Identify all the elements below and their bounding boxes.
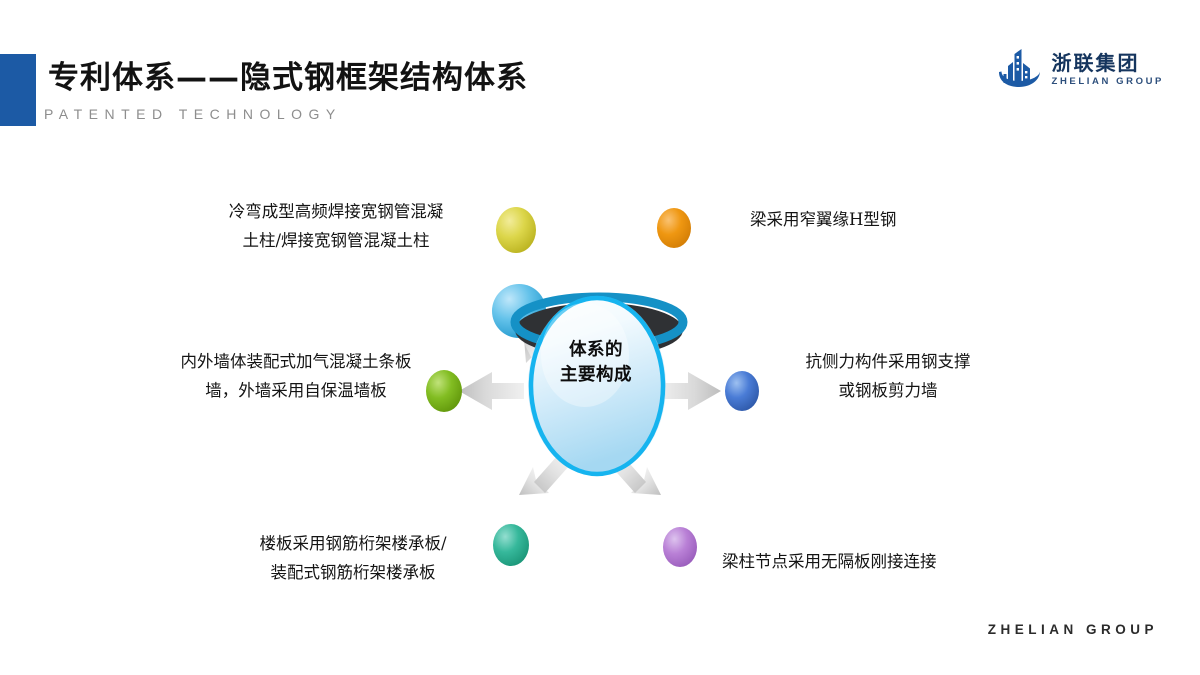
- footer-brand: ZHELIAN GROUP: [988, 622, 1158, 637]
- node-label-wall-panel-line2: 墙，外墙采用自保温墙板: [156, 377, 436, 406]
- node-label-wall-panel-line1: 内外墙体装配式加气混凝土条板: [156, 348, 436, 377]
- structure-system-diagram: 体系的 主要构成 冷弯成型高频焊接宽钢管混凝 土柱/焊接宽钢管混凝土柱 梁采用窄…: [0, 150, 1200, 620]
- header-accent-bar: [0, 54, 36, 126]
- node-label-floor-deck-line2: 装配式钢筋桁架楼承板: [218, 559, 488, 588]
- node-label-joint-line1: 梁柱节点采用无隔板刚接连接: [722, 548, 1012, 577]
- node-label-beam: 梁采用窄翼缘H型钢: [750, 206, 1030, 235]
- arrow-left: [459, 372, 524, 410]
- node-label-floor-deck: 楼板采用钢筋桁架楼承板/ 装配式钢筋桁架楼承板: [218, 530, 488, 588]
- building-logo-icon: [995, 44, 1043, 95]
- brand-name-en: ZHELIAN GROUP: [1052, 77, 1164, 87]
- node-label-column-line1: 冷弯成型高频焊接宽钢管混凝: [196, 198, 476, 227]
- node-label-lateral-force: 抗侧力构件采用钢支撑 或钢板剪力墙: [768, 348, 1008, 406]
- node-label-floor-deck-line1: 楼板采用钢筋桁架楼承板/: [218, 530, 488, 559]
- node-label-lateral-force-line1: 抗侧力构件采用钢支撑: [768, 348, 1008, 377]
- node-label-column-line2: 土柱/焊接宽钢管混凝土柱: [196, 227, 476, 256]
- center-hub: [492, 284, 683, 476]
- brand-logo-text: 浙联集团 ZHELIAN GROUP: [1052, 53, 1164, 87]
- page-title: 专利体系——隐式钢框架结构体系: [48, 52, 528, 97]
- node-label-wall-panel: 内外墙体装配式加气混凝土条板 墙，外墙采用自保温墙板: [156, 348, 436, 406]
- page-subtitle: PATENTED TECHNOLOGY: [44, 106, 342, 122]
- node-label-lateral-force-line2: 或钢板剪力墙: [768, 377, 1008, 406]
- brand-name-cn: 浙联集团: [1052, 53, 1140, 73]
- brand-logo: 浙联集团 ZHELIAN GROUP: [995, 44, 1164, 95]
- node-label-beam-line1: 梁采用窄翼缘H型钢: [750, 206, 1030, 235]
- node-label-column: 冷弯成型高频焊接宽钢管混凝 土柱/焊接宽钢管混凝土柱: [196, 198, 476, 256]
- node-label-joint: 梁柱节点采用无隔板刚接连接: [722, 548, 1012, 577]
